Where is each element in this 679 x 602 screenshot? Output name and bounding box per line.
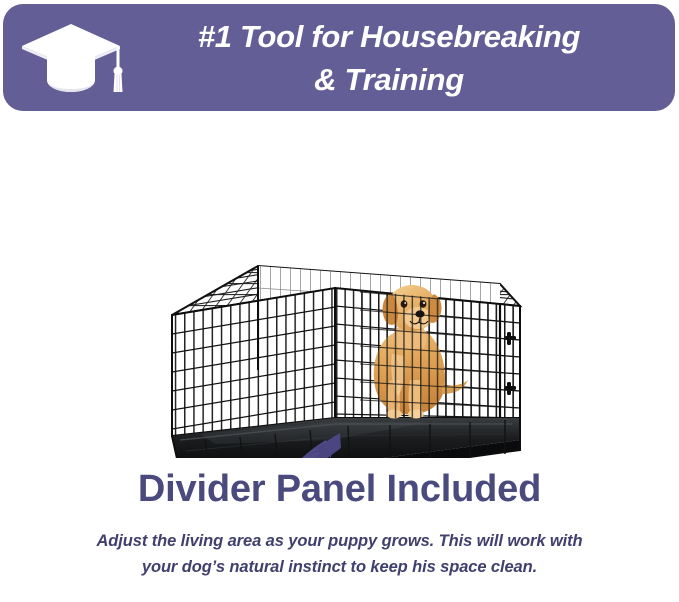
dog-crate-illustration [0, 118, 679, 458]
banner-headline: #1 Tool for Housebreaking & Training [133, 15, 645, 101]
graduation-cap-icon [21, 22, 125, 94]
banner-headline-line-1: #1 Tool for Housebreaking [133, 15, 645, 58]
caption-description-line-1: Adjust the living area as your puppy gro… [0, 528, 679, 554]
product-image [0, 118, 679, 458]
header-banner: #1 Tool for Housebreaking & Training [3, 4, 675, 111]
banner-headline-line-2: & Training [133, 58, 645, 101]
caption-description: Adjust the living area as your puppy gro… [0, 528, 679, 580]
caption-description-line-2: your dog’s natural instinct to keep his … [0, 554, 679, 580]
caption-block: Divider Panel Included Adjust the living… [0, 466, 679, 580]
divider-panel-heading: Divider Panel Included [0, 466, 679, 512]
